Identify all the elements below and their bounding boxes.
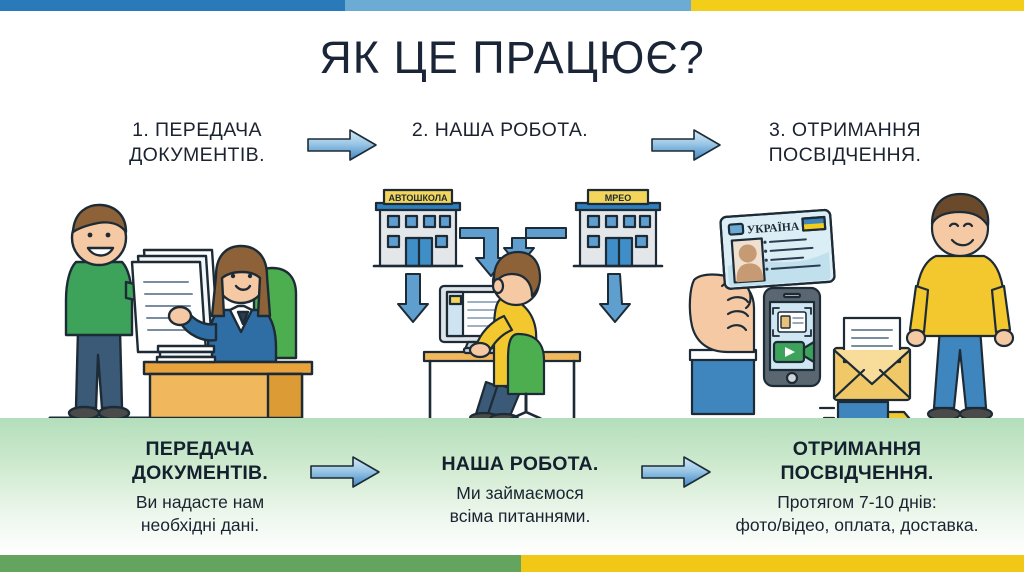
step-heading-1-line2: ДОКУМЕНТІВ. (62, 143, 332, 168)
scene-receive-licence: УКРАЇНА (688, 190, 1024, 430)
summary-block-3-title-line1: ОТРИМАННЯ (690, 437, 1024, 461)
summary-block-2-sub-line2: всіма питаннями. (370, 505, 670, 528)
step-heading-1-line1: 1. ПЕРЕДАЧА (62, 118, 332, 143)
infographic-page: ЯК ЦЕ ПРАЦЮЄ? 1. ПЕРЕДАЧА ДОКУМЕНТІВ. 2.… (0, 0, 1024, 572)
summary-block-1-description: Ви надасте нам необхідні дані. (55, 491, 345, 537)
top-color-bar (0, 0, 1024, 11)
step-heading-3-line1: 3. ОТРИМАННЯ (700, 118, 990, 143)
summary-block-3-sub-line1: Протягом 7-10 днів: (690, 491, 1024, 514)
top-bar-segment-yellow (691, 0, 1024, 11)
summary-block-2-title-line1: НАША РОБОТА. (370, 452, 670, 476)
summary-block-3: ОТРИМАННЯ ПОСВІДЧЕННЯ. Протягом 7-10 дні… (690, 437, 1024, 537)
summary-block-1-title-line1: ПЕРЕДАЧА (55, 437, 345, 461)
arrow-right-step1-to-step2-icon (306, 128, 378, 162)
step-heading-2-line1: 2. НАША РОБОТА. (355, 118, 645, 143)
summary-block-1-sub-line2: необхідні дані. (55, 514, 345, 537)
scene-our-work: АВТОШКОЛА МРЕО (368, 186, 674, 432)
sign-autoschool-label: АВТОШКОЛА (388, 193, 448, 203)
step-heading-3-line2: ПОСВІДЧЕННЯ. (700, 143, 990, 168)
summary-block-1-title: ПЕРЕДАЧА ДОКУМЕНТІВ. (55, 437, 345, 485)
arrow-right-step2-to-step3-icon (650, 128, 722, 162)
step-heading-3: 3. ОТРИМАННЯ ПОСВІДЧЕННЯ. (700, 118, 990, 168)
top-bar-segment-blue-light (345, 0, 691, 11)
summary-block-3-title-line2: ПОСВІДЧЕННЯ. (690, 461, 1024, 485)
page-title: ЯК ЦЕ ПРАЦЮЄ? (0, 32, 1024, 84)
summary-block-3-sub-line2: фото/відео, оплата, доставка. (690, 514, 1024, 537)
sign-mreo-label: МРЕО (605, 193, 632, 203)
scene-document-handover (40, 190, 340, 430)
step-headings-row: 1. ПЕРЕДАЧА ДОКУМЕНТІВ. 2. НАША РОБОТА. … (0, 118, 1024, 174)
top-bar-segment-blue-dark (0, 0, 345, 11)
summary-block-3-description: Протягом 7-10 днів: фото/відео, оплата, … (690, 491, 1024, 537)
summary-block-2-description: Ми займаємося всіма питаннями. (370, 482, 670, 528)
summary-block-1: ПЕРЕДАЧА ДОКУМЕНТІВ. Ви надасте нам необ… (55, 437, 345, 537)
summary-block-3-title: ОТРИМАННЯ ПОСВІДЧЕННЯ. (690, 437, 1024, 485)
bottom-bar-segment-green (0, 555, 521, 572)
summary-block-2-sub-line1: Ми займаємося (370, 482, 670, 505)
bottom-color-bar (0, 555, 1024, 572)
bottom-bar-segment-yellow (521, 555, 1024, 572)
step-heading-2: 2. НАША РОБОТА. (355, 118, 645, 143)
summary-block-2: НАША РОБОТА. Ми займаємося всіма питання… (370, 452, 670, 528)
summary-block-1-sub-line1: Ви надасте нам (55, 491, 345, 514)
step-heading-1: 1. ПЕРЕДАЧА ДОКУМЕНТІВ. (62, 118, 332, 168)
summary-block-1-title-line2: ДОКУМЕНТІВ. (55, 461, 345, 485)
summary-block-2-title: НАША РОБОТА. (370, 452, 670, 476)
